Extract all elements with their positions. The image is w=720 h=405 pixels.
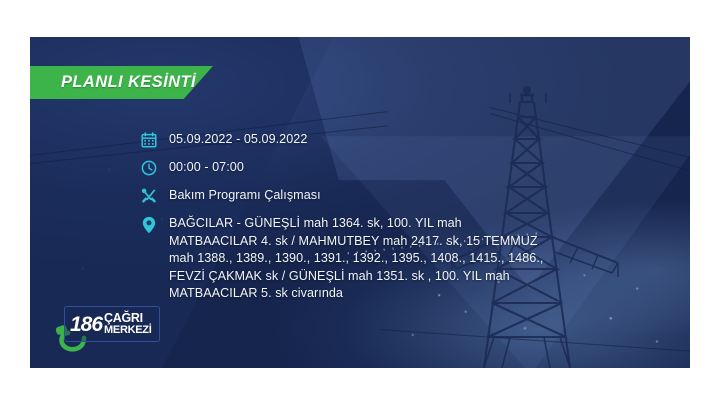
- outage-date-range: 05.09.2022 - 05.09.2022: [169, 131, 307, 149]
- outage-address: BAĞCILAR - GÜNEŞLİ mah 1364. sk, 100. YI…: [169, 215, 553, 303]
- info-row-date: 05.09.2022 - 05.09.2022: [138, 131, 553, 150]
- info-row-location: BAĞCILAR - GÜNEŞLİ mah 1364. sk, 100. YI…: [138, 215, 553, 303]
- outage-time-range: 00:00 - 07:00: [169, 159, 244, 177]
- planned-outage-card: PLANLI KESİNTİ: [30, 37, 690, 368]
- logo-line-cagri: ÇAĞRI: [104, 312, 151, 325]
- logo-frame: 186 ÇAĞRI MERKEZİ: [64, 306, 160, 342]
- outage-work-type: Bakım Programı Çalışması: [169, 187, 321, 205]
- outage-info-list: 05.09.2022 - 05.09.2022 00:00 - 07:00: [138, 131, 553, 303]
- tools-icon: [138, 187, 160, 206]
- logo-wordmark: ÇAĞRI MERKEZİ: [104, 312, 151, 336]
- banner-label: PLANLI KESİNTİ: [61, 73, 196, 92]
- calendar-icon: [138, 131, 160, 150]
- info-row-worktype: Bakım Programı Çalışması: [138, 187, 553, 206]
- clock-icon: [138, 159, 160, 178]
- info-row-time: 00:00 - 07:00: [138, 159, 553, 178]
- planned-outage-banner: PLANLI KESİNTİ: [30, 66, 213, 99]
- location-pin-icon: [138, 215, 160, 234]
- logo-number: 186: [70, 314, 102, 335]
- call-center-logo: 186 ÇAĞRI MERKEZİ: [54, 302, 162, 356]
- logo-line-merkezi: MERKEZİ: [104, 325, 151, 336]
